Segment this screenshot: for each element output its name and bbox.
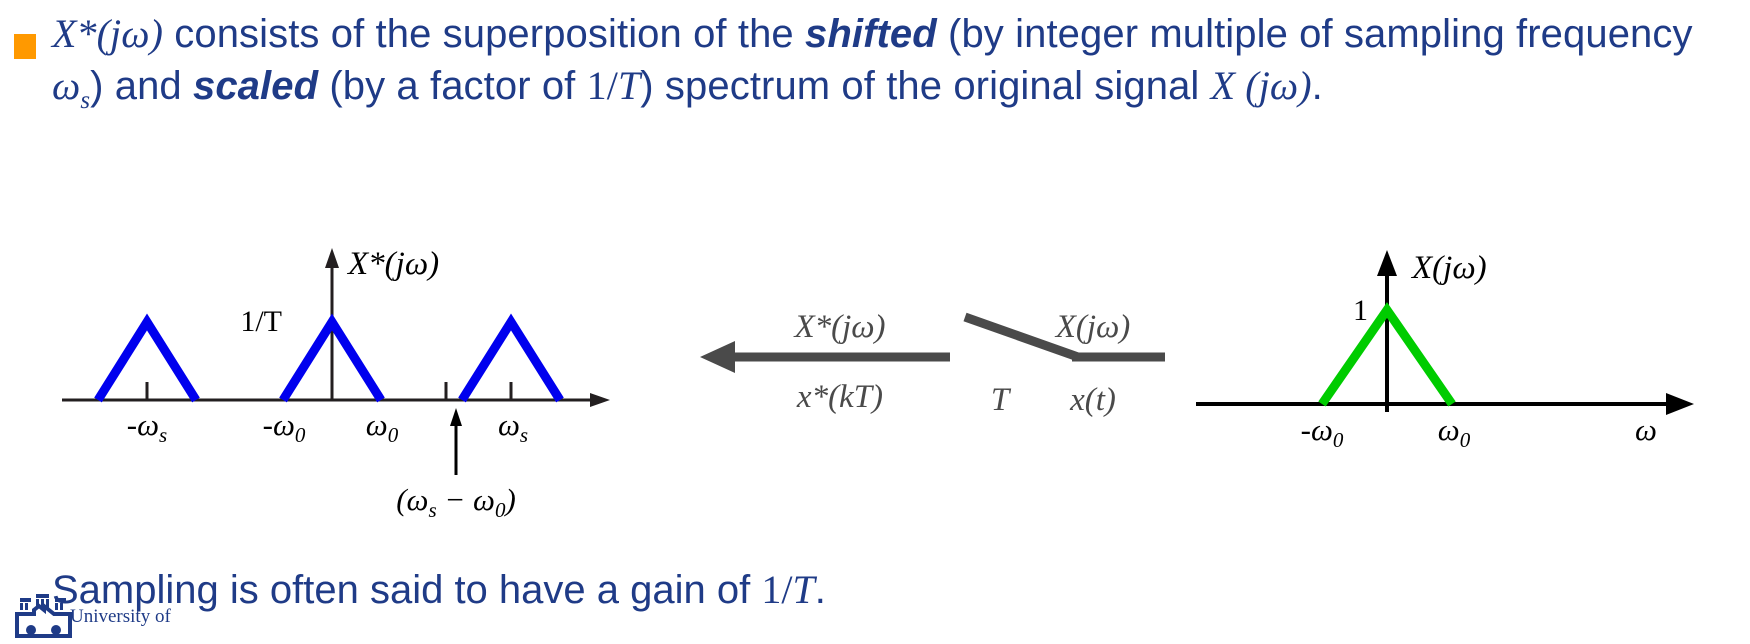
bullet-math-x-jw: X (jω) xyxy=(1211,63,1312,108)
left-chart-title-label: X*(jω) xyxy=(346,246,439,282)
middle-right-bottom-label: x(t) xyxy=(1069,382,1116,418)
right-chart-ticklabel-neg-w0: -ω0 xyxy=(1301,412,1344,452)
right-chart-peak-label: 1 xyxy=(1353,294,1368,327)
slide-canvas: X*(jω) consists of the superposition of … xyxy=(0,0,1750,644)
closing-math-one-over-t: 1/T xyxy=(761,567,814,612)
bullet-paragraph-text: X*(jω) consists of the superposition of … xyxy=(14,8,1734,127)
sampler-switch-diagram: X*(jω) x*(kT) T X(jω) x(t) xyxy=(700,309,1165,418)
bullet-plain-1: consists of the superposition of the xyxy=(163,12,805,56)
bullet-plain-6: . xyxy=(1312,64,1323,108)
left-chart-ticklabel-ws: ωs xyxy=(498,407,528,447)
left-chart-ticklabel-w0: ω0 xyxy=(366,407,399,447)
university-crest-logo: University of xyxy=(14,592,184,644)
logo-wordmark-line1: University of xyxy=(70,606,171,627)
bullet-math-omega-s: ω xyxy=(52,63,80,108)
chart-sampled-spectrum: X*(jω) 1/T -ωs -ω0 ω0 ωs (ωs − ω0) xyxy=(62,246,610,522)
bullet-plain-3: ) and xyxy=(90,64,193,108)
left-chart-y-axis-arrowhead xyxy=(325,248,339,268)
left-chart-peak-label: 1/T xyxy=(240,305,282,338)
spectra-figure: X*(jω) 1/T -ωs -ω0 ω0 ωs (ωs − ω0) X*(jω… xyxy=(0,232,1750,542)
right-chart-title-label: X(jω) xyxy=(1410,250,1487,286)
crest-icon xyxy=(14,592,74,644)
bullet-paragraph-block: X*(jω) consists of the superposition of … xyxy=(14,8,1734,127)
middle-left-arrow-head xyxy=(700,341,735,373)
right-chart-xaxis-label: ω xyxy=(1635,412,1657,447)
middle-right-top-label: X(jω) xyxy=(1054,309,1131,345)
bullet-plain-5: ) spectrum of the original signal xyxy=(640,64,1210,108)
left-chart-ticklabel-neg-w0: -ω0 xyxy=(263,407,306,447)
bullet-plain-2: (by integer multiple of sampling frequen… xyxy=(937,12,1693,56)
middle-left-arrow-bottom-label: x*(kT) xyxy=(796,379,883,415)
bullet-emph-shifted: shifted xyxy=(805,12,937,56)
closing-suffix: . xyxy=(815,568,826,612)
square-bullet-icon xyxy=(14,34,36,59)
switch-period-label: T xyxy=(991,382,1012,418)
left-chart-callout-label: (ωs − ω0) xyxy=(396,482,516,522)
left-chart-ticklabel-neg-ws: -ωs xyxy=(127,407,167,447)
bullet-emph-scaled: scaled xyxy=(193,64,318,108)
bullet-plain-4: (by a factor of xyxy=(318,64,586,108)
bullet-math-one-over-t: 1/T xyxy=(587,63,641,108)
right-chart-y-axis-arrowhead xyxy=(1377,250,1397,276)
middle-left-arrow-top-label: X*(jω) xyxy=(792,309,885,345)
left-chart-callout-arrowhead xyxy=(450,408,462,426)
right-chart-x-axis-arrowhead xyxy=(1666,393,1694,415)
right-chart-ticklabel-w0: ω0 xyxy=(1438,412,1471,452)
bullet-math-omega-s-subscript: s xyxy=(80,87,90,114)
bullet-math-xstar: X*(jω) xyxy=(52,11,163,56)
chart-original-spectrum: X(jω) 1 -ω0 ω0 ω xyxy=(1196,250,1694,452)
left-chart-x-axis-arrowhead xyxy=(590,393,610,407)
